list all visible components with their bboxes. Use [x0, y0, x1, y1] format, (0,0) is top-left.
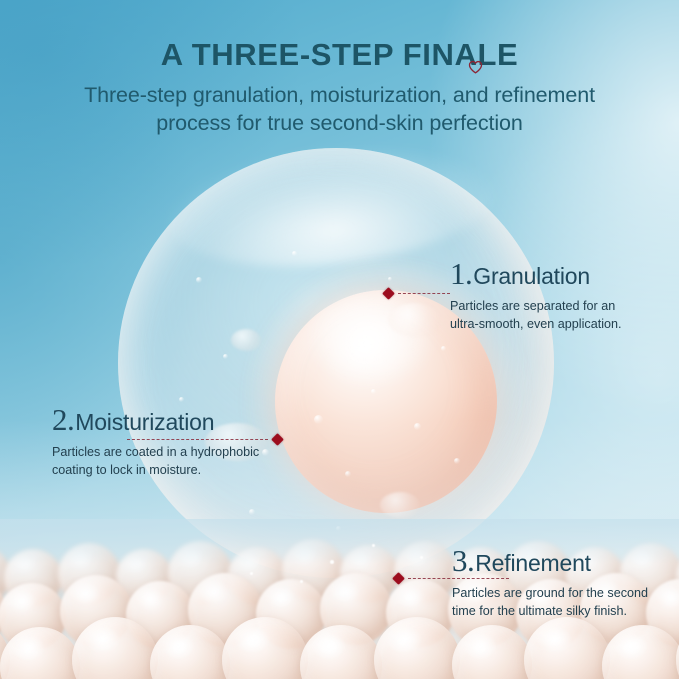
bubble-blob-mid-left — [231, 329, 261, 351]
step-1-name: Granulation — [473, 265, 590, 288]
subtitle-line-1: Three-step granulation, moisturization, … — [84, 83, 595, 107]
connector-step-1 — [384, 288, 450, 299]
step-1-number: 1. — [450, 258, 472, 289]
step-2-heading: 2. Moisturization — [52, 404, 259, 435]
step-3-number: 3. — [452, 545, 474, 576]
callout-step-3: 3. Refinement Particles are ground for t… — [452, 545, 648, 621]
sparkle — [300, 580, 303, 583]
subtitle-line-2: process for true second-skin perfection — [156, 111, 523, 135]
sparkle — [420, 556, 423, 559]
product-infographic-poster: A THREE-STEP FINALE Three-step granulati… — [0, 0, 679, 679]
heart-cursor-icon — [468, 59, 483, 75]
page-subtitle: Three-step granulation, moisturization, … — [0, 82, 679, 137]
callout-step-2: 2. Moisturization Particles are coated i… — [52, 404, 259, 480]
page-title: A THREE-STEP FINALE — [0, 38, 679, 72]
marker-diamond-step-3 — [392, 572, 405, 585]
step-1-heading: 1. Granulation — [450, 258, 622, 289]
callout-step-1: 1. Granulation Particles are separated f… — [450, 258, 622, 334]
step-2-number: 2. — [52, 404, 74, 435]
bubble-blob-upper-right — [388, 303, 440, 337]
sparkle — [250, 572, 253, 575]
marker-diamond-step-1 — [382, 287, 395, 300]
step-3-description: Particles are ground for the second time… — [452, 585, 648, 621]
sparkle — [330, 560, 334, 564]
step-2-name: Moisturization — [75, 411, 214, 434]
sparkle — [372, 544, 375, 547]
step-3-name: Refinement — [475, 552, 591, 575]
step-1-description: Particles are separated for an ultra-smo… — [450, 298, 622, 334]
header-block: A THREE-STEP FINALE Three-step granulati… — [0, 38, 679, 137]
step-2-description: Particles are coated in a hydrophobic co… — [52, 444, 259, 480]
dash-line-step-1 — [398, 293, 450, 294]
step-3-heading: 3. Refinement — [452, 545, 648, 576]
marker-diamond-step-2 — [271, 433, 284, 446]
